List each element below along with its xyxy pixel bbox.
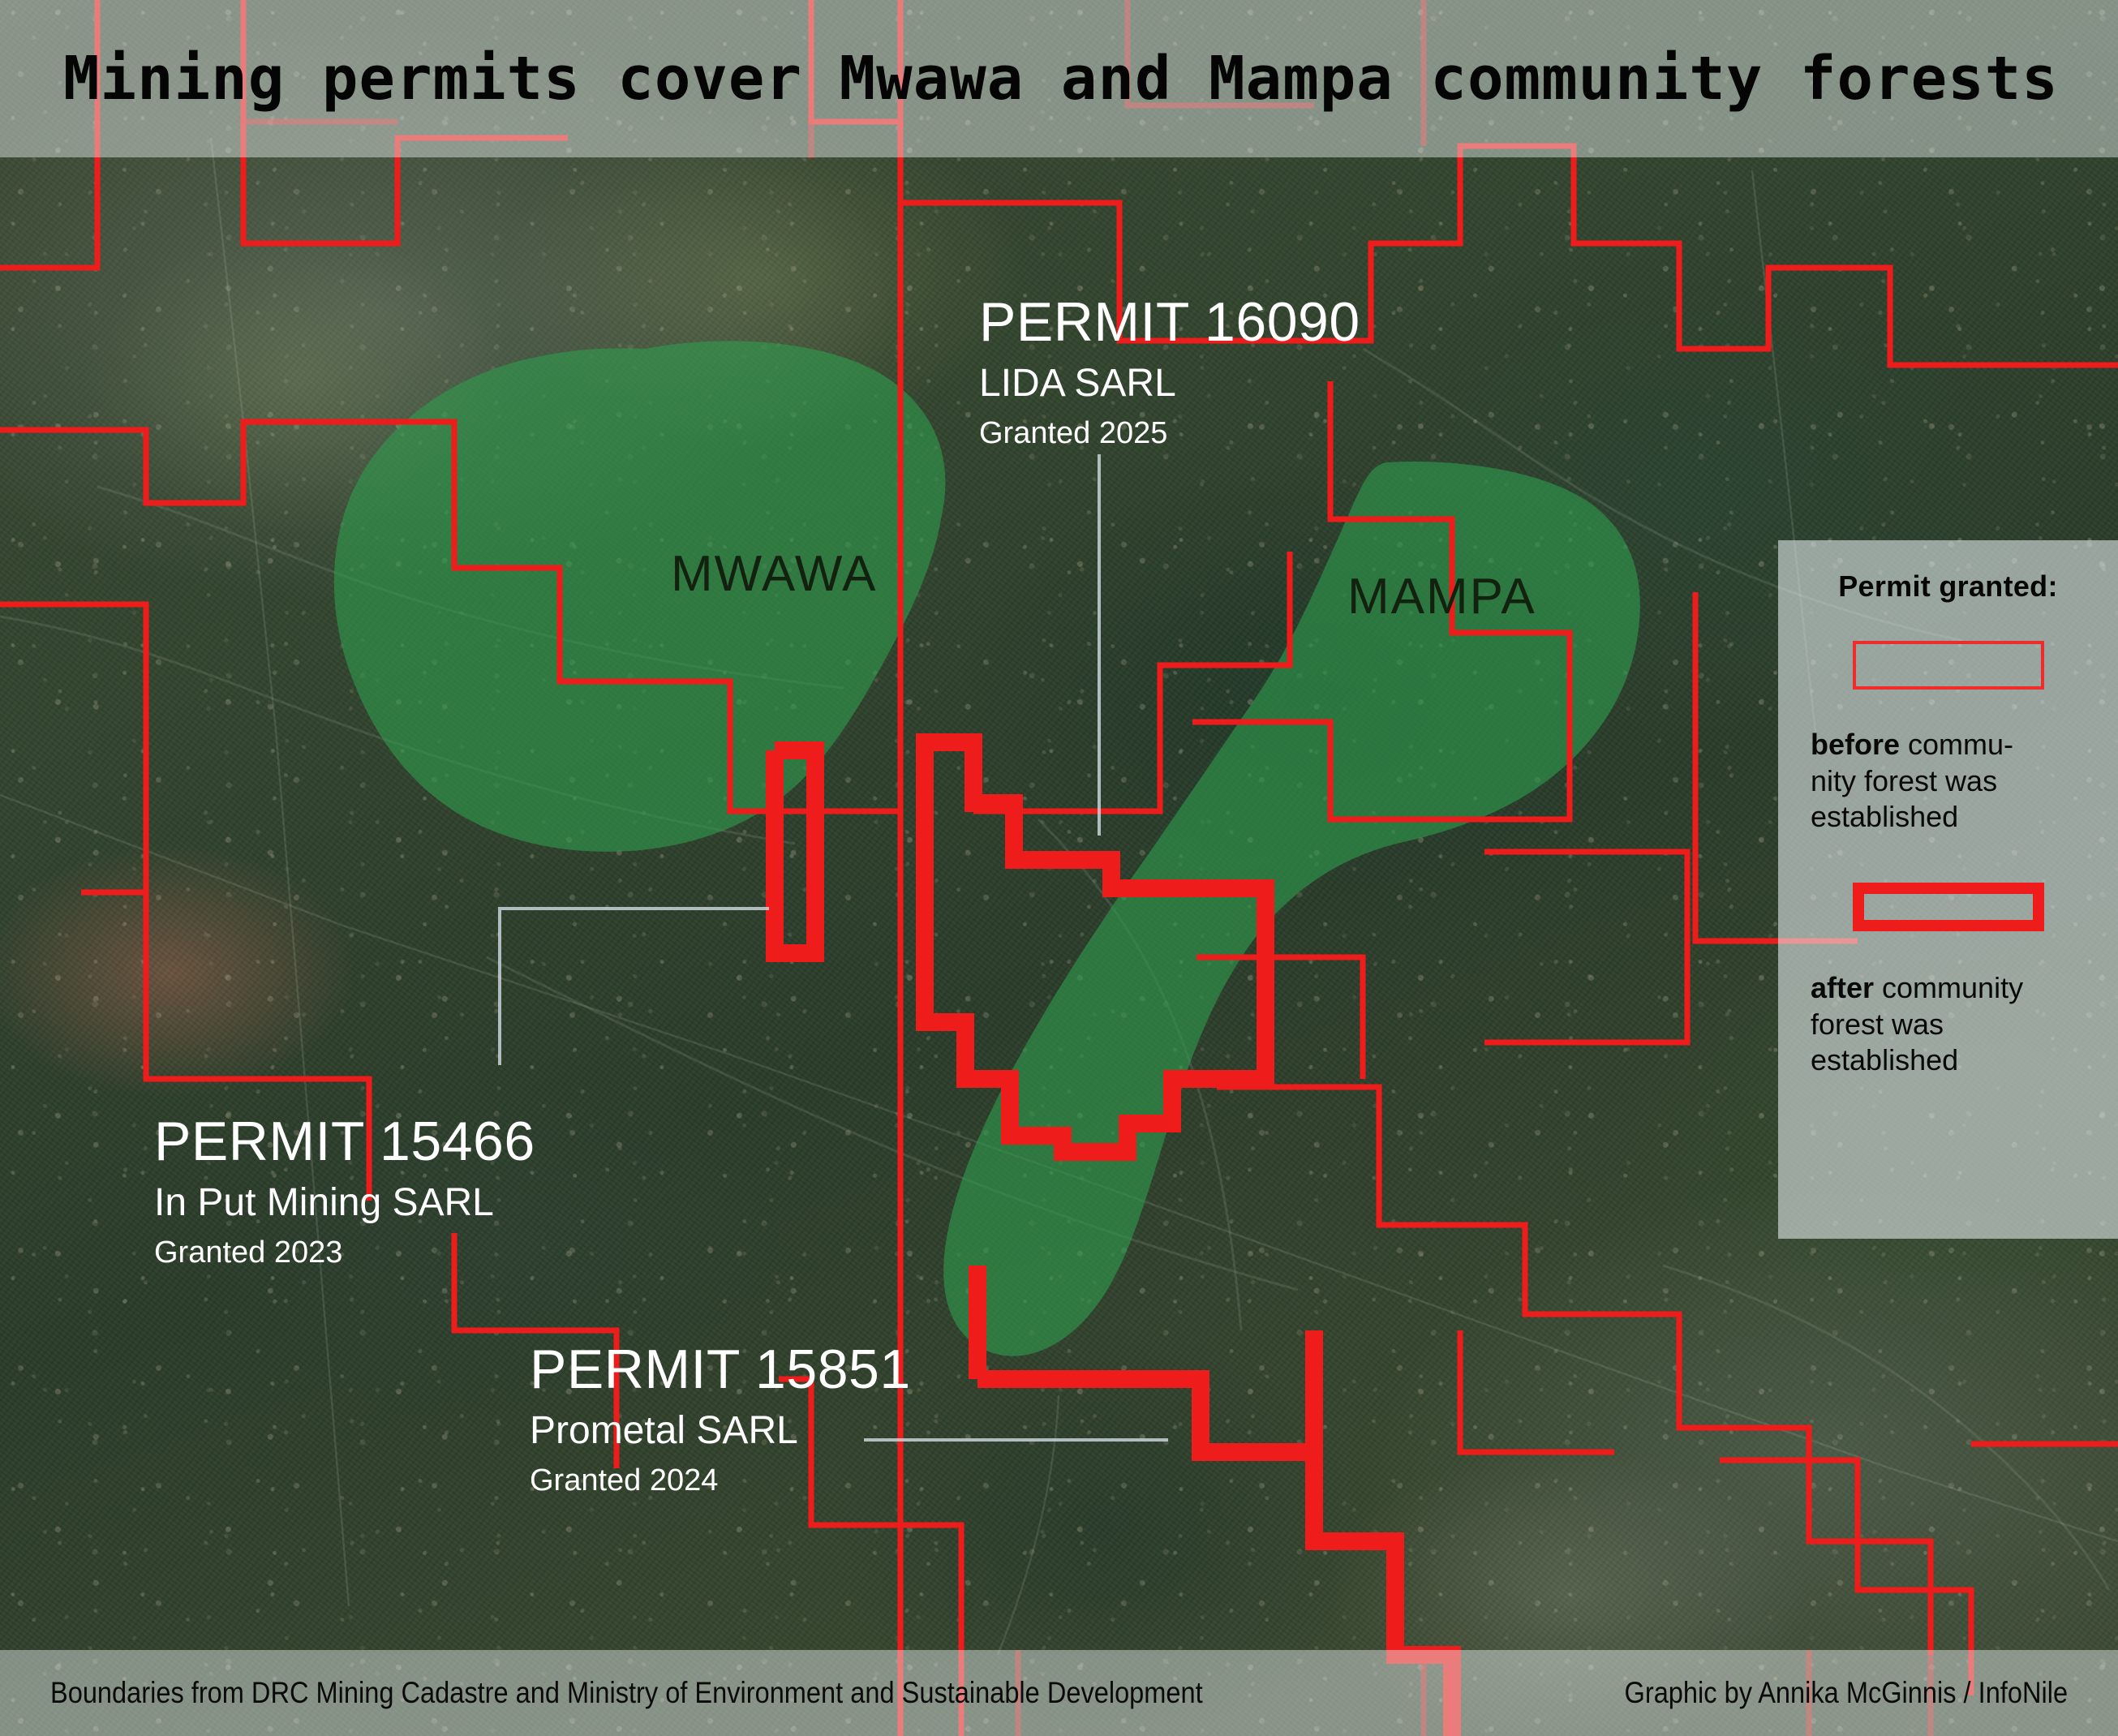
- forest-label-mampa: MAMPA: [1347, 568, 1536, 625]
- map-title: Mining permits cover Mwawa and Mampa com…: [63, 44, 2059, 114]
- permit-company: In Put Mining SARL: [154, 1179, 535, 1227]
- legend-swatch-after-thick-red-outline: [1853, 883, 2044, 931]
- permit-id: PERMIT 15466: [154, 1113, 535, 1171]
- permit-granted: Granted 2023: [154, 1234, 535, 1273]
- permit-granted: Granted 2024: [530, 1462, 911, 1501]
- map-graphic: MWAWA MAMPA PERMIT 16090 LIDA SARL Grant…: [0, 0, 2118, 1736]
- footer-banner: Boundaries from DRC Mining Cadastre and …: [0, 1650, 2118, 1736]
- permit-id: PERMIT 16090: [979, 294, 1360, 351]
- legend-text-after: after communityforest wasestablished: [1811, 970, 2086, 1079]
- permit-callout-15851: PERMIT 15851 Prometal SARL Granted 2024: [530, 1341, 911, 1501]
- legend-after-bold: after: [1811, 971, 1874, 1004]
- permit-granted: Granted 2025: [979, 415, 1360, 453]
- legend-swatch-before-thin-red-outline: [1853, 641, 2044, 690]
- permit-callout-15466: PERMIT 15466 In Put Mining SARL Granted …: [154, 1113, 535, 1273]
- title-banner: Mining permits cover Mwawa and Mampa com…: [0, 0, 2118, 157]
- leader-line-permit-15466: [500, 909, 769, 1065]
- map-legend: Permit granted: before commu-nity forest…: [1778, 540, 2118, 1239]
- permit-company: LIDA SARL: [979, 359, 1360, 408]
- graphic-credit: Graphic by Annika McGinnis / InfoNile: [1624, 1676, 2068, 1710]
- legend-text-before: before commu-nity forest wasestablished: [1811, 727, 2086, 836]
- permit-id: PERMIT 15851: [530, 1341, 911, 1399]
- legend-before-bold: before: [1811, 728, 1900, 761]
- permit-company: Prometal SARL: [530, 1407, 911, 1455]
- forest-label-mwawa: MWAWA: [671, 545, 878, 603]
- permit-callout-16090: PERMIT 16090 LIDA SARL Granted 2025: [979, 294, 1360, 453]
- source-attribution: Boundaries from DRC Mining Cadastre and …: [50, 1676, 1203, 1710]
- legend-heading: Permit granted:: [1811, 569, 2086, 604]
